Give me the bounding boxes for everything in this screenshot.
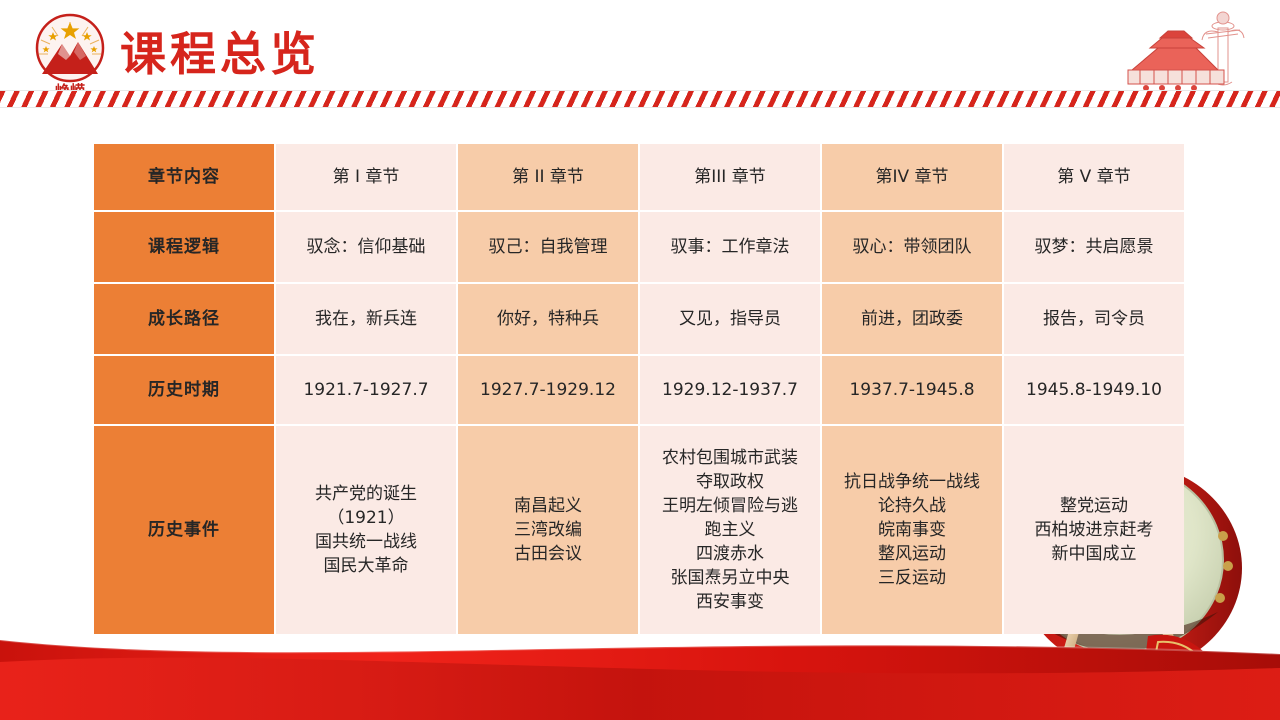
cell-events-1: 共产党的诞生（1921）国共统一战线国民大革命 xyxy=(276,426,456,634)
row-label-historical-period: 历史时期 xyxy=(94,356,274,424)
cell-period-2: 1927.7-1929.12 xyxy=(458,356,638,424)
cell-period-1: 1921.7-1927.7 xyxy=(276,356,456,424)
cell-line: 西安事变 xyxy=(644,590,816,614)
cell-line: 整党运动 xyxy=(1008,494,1180,518)
cell-chapter-1: 第 I 章节 xyxy=(276,144,456,210)
cell-events-3: 农村包围城市武装夺取政权王明左倾冒险与逃跑主义四渡赤水张国焘另立中央西安事变 xyxy=(640,426,820,634)
cell-line: 夺取政权 xyxy=(644,470,816,494)
cell-line: 共产党的诞生 xyxy=(280,482,452,506)
table-row-historical-events: 历史事件 共产党的诞生（1921）国共统一战线国民大革命 南昌起义三湾改编古田会… xyxy=(94,426,1184,634)
cell-line: 国共统一战线 xyxy=(280,530,452,554)
page-title: 课程总览 xyxy=(120,26,320,82)
row-label-historical-events: 历史事件 xyxy=(94,426,274,634)
cell-line: 张国焘另立中央 xyxy=(644,566,816,590)
cell-period-5: 1945.8-1949.10 xyxy=(1004,356,1184,424)
cell-line: 四渡赤水 xyxy=(644,542,816,566)
cell-line: （1921） xyxy=(280,506,452,530)
course-overview-table-wrap: 章节内容 第 I 章节 第 II 章节 第III 章节 第IV 章节 第 V 章… xyxy=(92,142,1186,636)
row-label-course-logic: 课程逻辑 xyxy=(94,212,274,282)
cell-chapter-5: 第 V 章节 xyxy=(1004,144,1184,210)
table-row-chapter-content: 章节内容 第 I 章节 第 II 章节 第III 章节 第IV 章节 第 V 章… xyxy=(94,144,1184,210)
row-label-growth-path: 成长路径 xyxy=(94,284,274,354)
cell-line: 国民大革命 xyxy=(280,554,452,578)
cell-chapter-2: 第 II 章节 xyxy=(458,144,638,210)
tiananmen-gate-icon xyxy=(1110,0,1270,96)
cell-line: 跑主义 xyxy=(644,518,816,542)
cell-line: 抗日战争统一战线 xyxy=(826,470,998,494)
cell-line: 三湾改编 xyxy=(462,518,634,542)
table-row-historical-period: 历史时期 1921.7-1927.7 1927.7-1929.12 1929.1… xyxy=(94,356,1184,424)
cell-line: 古田会议 xyxy=(462,542,634,566)
mountain-star-emblem-icon: 峥嵘 xyxy=(22,10,118,98)
cell-path-3: 又见，指导员 xyxy=(640,284,820,354)
cell-events-2: 南昌起义三湾改编古田会议 xyxy=(458,426,638,634)
cell-path-2: 你好，特种兵 xyxy=(458,284,638,354)
cell-line: 三反运动 xyxy=(826,566,998,590)
diagonal-stripe-divider xyxy=(0,90,1280,108)
table-row-course-logic: 课程逻辑 驭念：信仰基础 驭己：自我管理 驭事：工作章法 驭心：带领团队 驭梦：… xyxy=(94,212,1184,282)
cell-logic-1: 驭念：信仰基础 xyxy=(276,212,456,282)
cell-line: 农村包围城市武装 xyxy=(644,446,816,470)
cell-line: 新中国成立 xyxy=(1008,542,1180,566)
cell-events-4: 抗日战争统一战线论持久战皖南事变整风运动三反运动 xyxy=(822,426,1002,634)
cell-period-4: 1937.7-1945.8 xyxy=(822,356,1002,424)
course-overview-table: 章节内容 第 I 章节 第 II 章节 第III 章节 第IV 章节 第 V 章… xyxy=(92,142,1186,636)
cell-line: 论持久战 xyxy=(826,494,998,518)
cell-line: 南昌起义 xyxy=(462,494,634,518)
cell-logic-5: 驭梦：共启愿景 xyxy=(1004,212,1184,282)
cell-logic-4: 驭心：带领团队 xyxy=(822,212,1002,282)
cell-line: 整风运动 xyxy=(826,542,998,566)
cell-path-1: 我在，新兵连 xyxy=(276,284,456,354)
cell-line: 西柏坡进京赶考 xyxy=(1008,518,1180,542)
cell-events-5: 整党运动西柏坡进京赶考新中国成立 xyxy=(1004,426,1184,634)
cell-line: 皖南事变 xyxy=(826,518,998,542)
table-row-growth-path: 成长路径 我在，新兵连 你好，特种兵 又见，指导员 前进，团政委 报告，司令员 xyxy=(94,284,1184,354)
cell-line: 王明左倾冒险与逃 xyxy=(644,494,816,518)
cell-chapter-4: 第IV 章节 xyxy=(822,144,1002,210)
row-label-chapter-content: 章节内容 xyxy=(94,144,274,210)
cell-period-3: 1929.12-1937.7 xyxy=(640,356,820,424)
cell-logic-3: 驭事：工作章法 xyxy=(640,212,820,282)
cell-path-5: 报告，司令员 xyxy=(1004,284,1184,354)
cell-logic-2: 驭己：自我管理 xyxy=(458,212,638,282)
cell-chapter-3: 第III 章节 xyxy=(640,144,820,210)
cell-path-4: 前进，团政委 xyxy=(822,284,1002,354)
